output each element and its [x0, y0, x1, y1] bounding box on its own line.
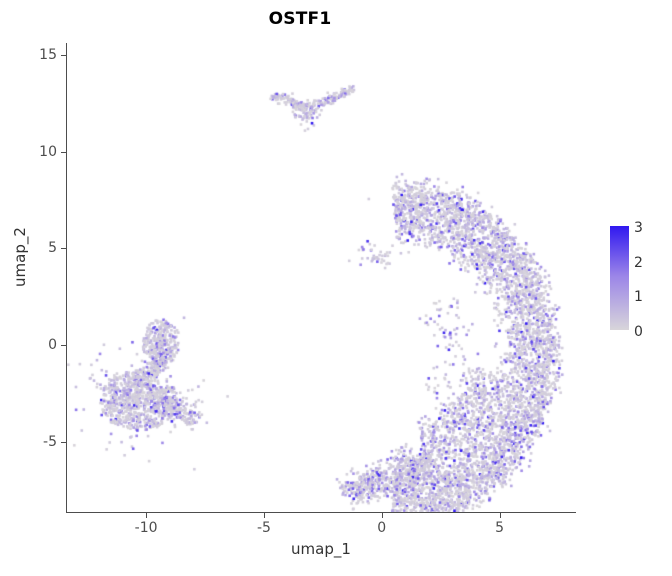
x-tick-mark	[500, 513, 501, 518]
x-tick-mark	[382, 513, 383, 518]
y-tick-mark	[61, 345, 66, 346]
y-tick-label: -5	[43, 434, 57, 450]
colorbar-tick-label: 0	[634, 324, 643, 340]
x-tick-mark	[264, 513, 265, 518]
page-title: OSTF1	[0, 9, 600, 29]
colorbar-tick-label: 3	[634, 220, 643, 236]
x-tick-label: -5	[257, 520, 271, 536]
y-tick-mark	[61, 55, 66, 56]
y-axis-label: umap_2	[11, 147, 29, 367]
y-tick-mark	[61, 442, 66, 443]
umap-feature-plot: OSTF1 -5051015 -10-505 umap_2 umap_1 321…	[0, 0, 672, 576]
y-tick-label: 5	[48, 240, 57, 256]
colorbar-legend: 3210	[610, 226, 670, 346]
colorbar-gradient	[610, 226, 629, 330]
x-tick-label: -10	[135, 520, 158, 536]
y-tick-mark	[61, 248, 66, 249]
x-axis-label: umap_1	[66, 540, 576, 558]
x-tick-label: 5	[495, 520, 504, 536]
plot-area	[66, 43, 575, 512]
colorbar-tick-label: 2	[634, 255, 643, 271]
scatter-plot-canvas	[66, 43, 575, 512]
y-tick-label: 15	[39, 47, 57, 63]
y-axis-line	[66, 43, 67, 513]
y-tick-mark	[61, 152, 66, 153]
x-tick-mark	[146, 513, 147, 518]
y-tick-label: 10	[39, 144, 57, 160]
y-tick-label: 0	[48, 337, 57, 353]
x-tick-label: 0	[377, 520, 386, 536]
colorbar-tick-label: 1	[634, 289, 643, 305]
